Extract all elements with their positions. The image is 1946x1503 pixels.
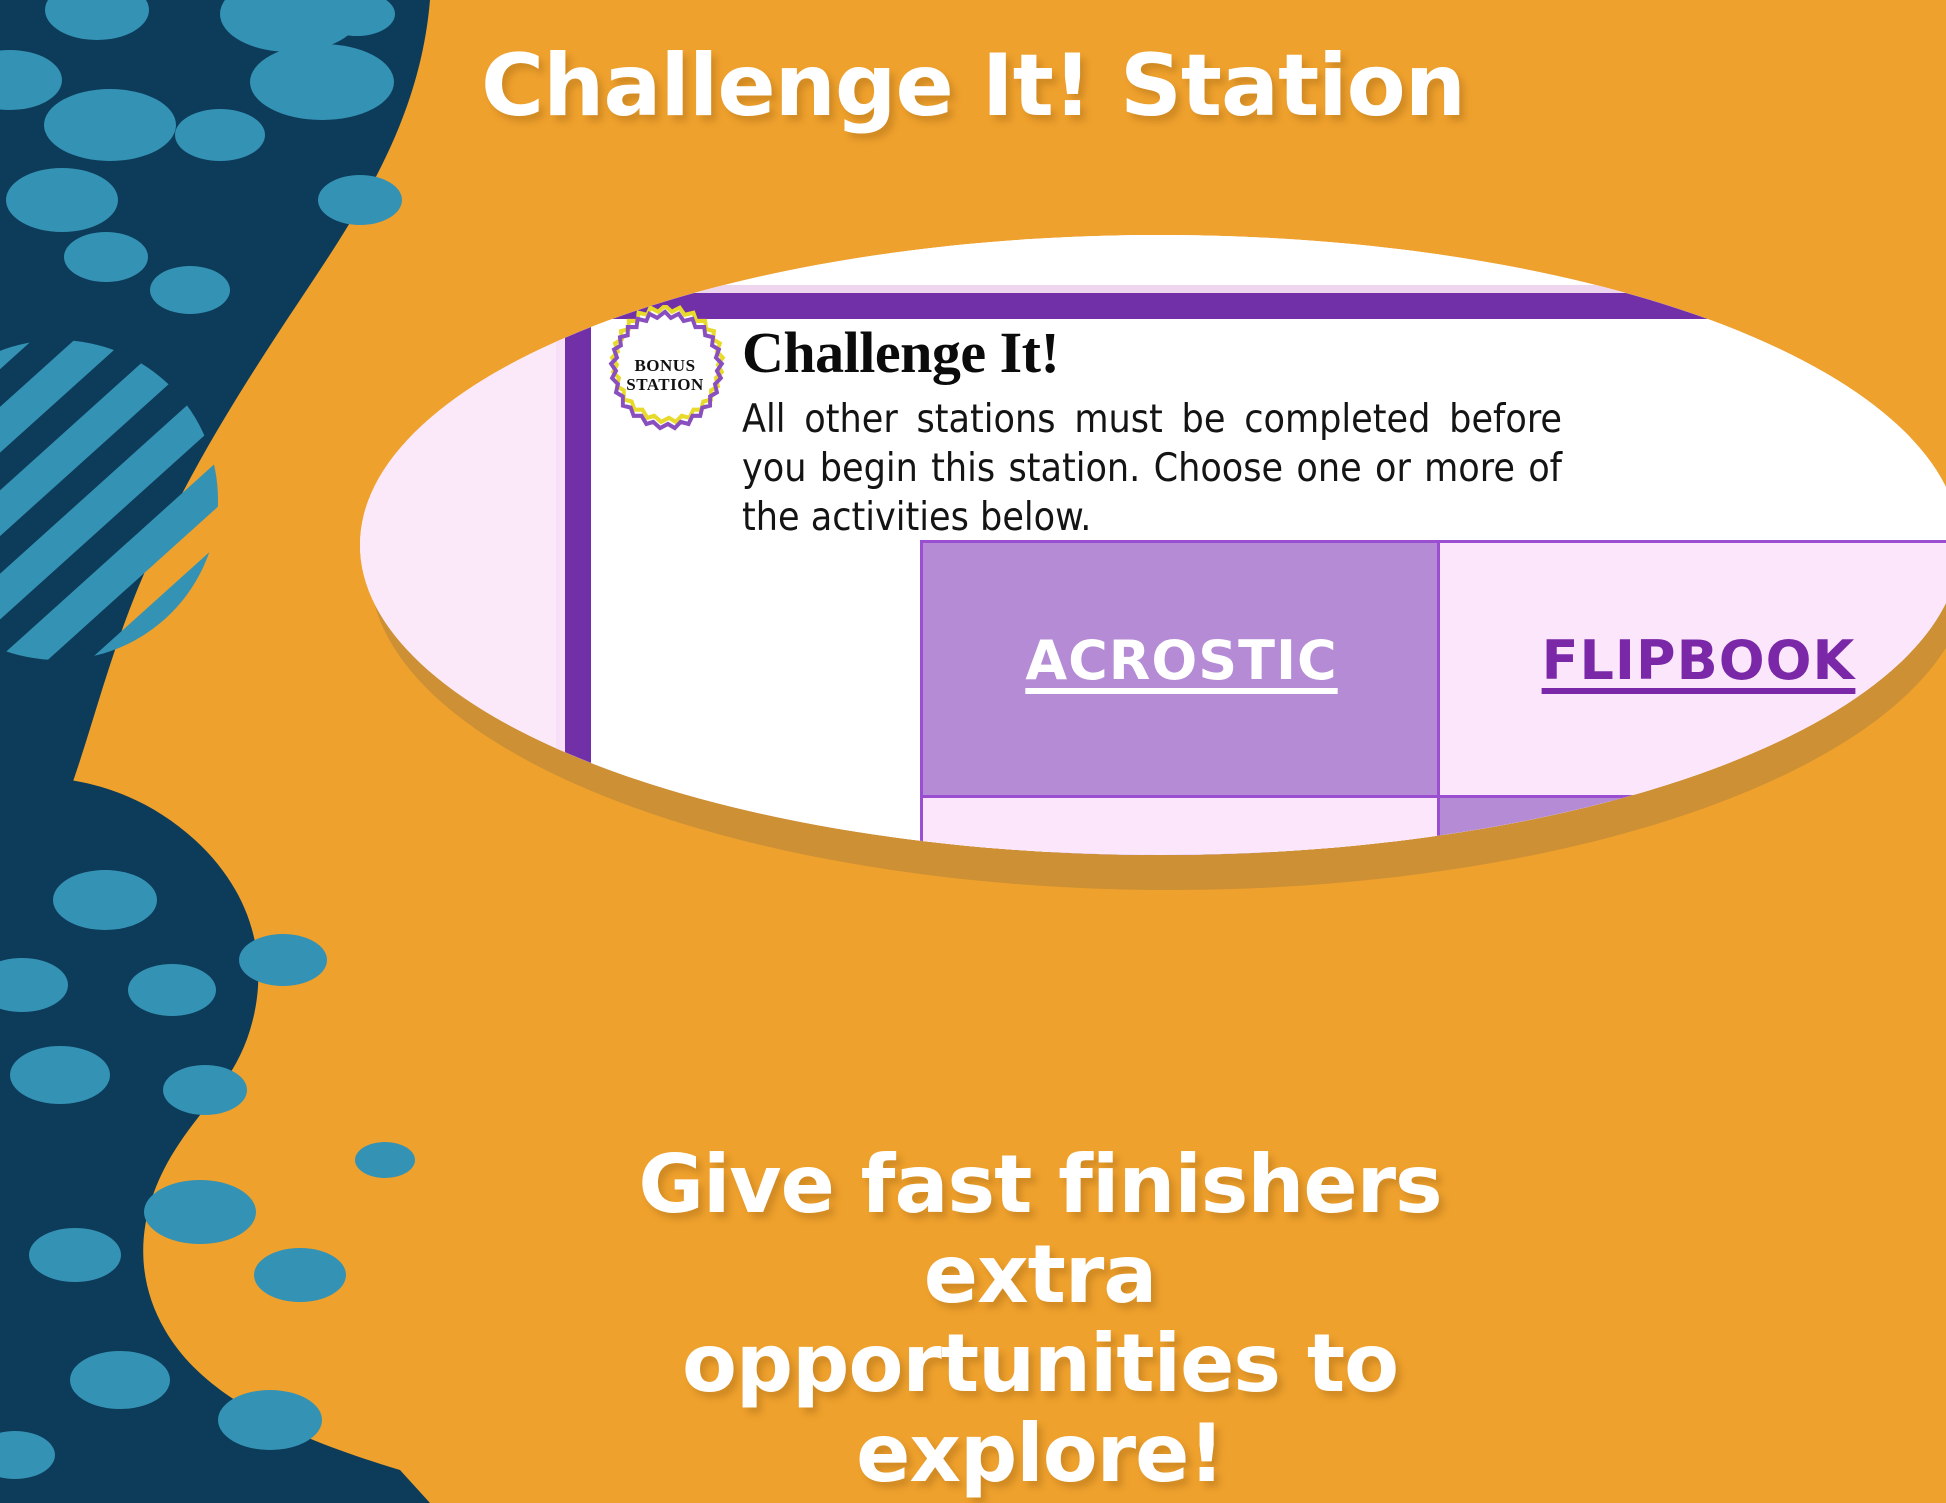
worksheet-title: Challenge It!: [742, 319, 1059, 386]
page-title: Challenge It! Station: [0, 42, 1946, 131]
worksheet-border-left: [565, 293, 591, 855]
page-caption-line-2: opportunities to explore!: [540, 1319, 1540, 1498]
page-caption: Give fast finishers extra opportunities …: [540, 1140, 1540, 1498]
activity-cell-flipbook[interactable]: FLIPBOOK: [1437, 540, 1946, 801]
slide-canvas: Challenge It! Station BONUS STATION Chal…: [0, 0, 1946, 1503]
activity-cell-row2-left[interactable]: [920, 795, 1443, 855]
worksheet-preview-card: BONUS STATION Challenge It! All other st…: [360, 235, 1946, 855]
page-caption-line-1: Give fast finishers extra: [540, 1140, 1540, 1319]
bonus-station-badge-text: BONUS STATION: [600, 305, 730, 445]
activity-cell-row2-right[interactable]: [1437, 795, 1946, 855]
activity-table: ACROSTIC FLIPBOOK: [920, 540, 1946, 855]
badge-line-2: STATION: [626, 375, 704, 394]
bonus-station-badge: BONUS STATION: [600, 305, 730, 445]
activity-cell-acrostic[interactable]: ACROSTIC: [920, 540, 1443, 801]
badge-line-1: BONUS: [634, 356, 695, 375]
worksheet-border-top-highlight: [565, 285, 1946, 293]
worksheet-border-left-highlight: [556, 293, 565, 855]
worksheet-instructions: All other stations must be completed bef…: [742, 395, 1562, 542]
worksheet-border-top: [565, 293, 1946, 319]
activity-link-flipbook[interactable]: FLIPBOOK: [1542, 629, 1856, 692]
activity-link-acrostic[interactable]: ACROSTIC: [1025, 629, 1337, 692]
